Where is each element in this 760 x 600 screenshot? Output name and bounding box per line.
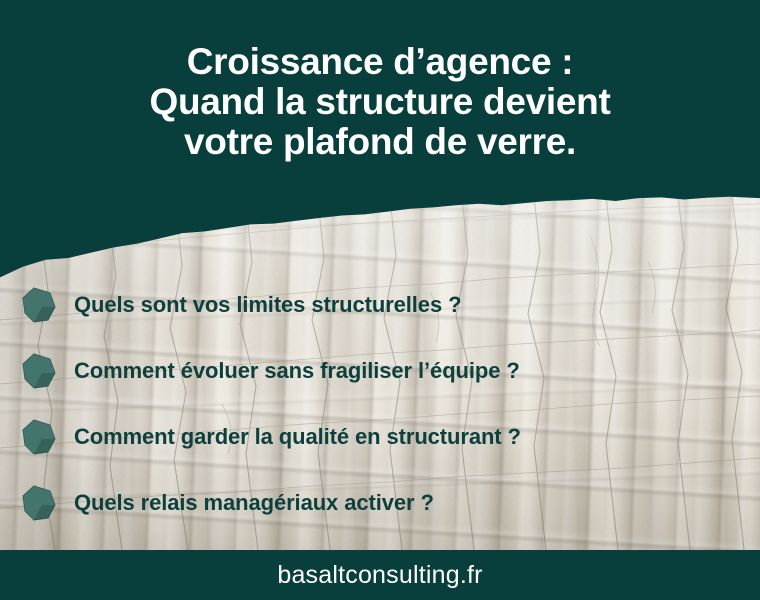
list-item-label: Quels sont vos limites structurelles ?	[74, 292, 461, 318]
basalt-hexagon-icon	[22, 353, 56, 389]
footer-bar: basaltconsulting.fr	[0, 550, 760, 600]
title-line-3: votre plafond de verre.	[0, 122, 760, 162]
list-item-label: Comment garder la qualité en structurant…	[74, 424, 521, 450]
title-line-2: Quand la structure devient	[0, 82, 760, 122]
list-item: Comment garder la qualité en structurant…	[0, 404, 760, 470]
list-item: Comment évoluer sans fragiliser l’équipe…	[0, 338, 760, 404]
list-item-label: Quels relais managériaux activer ?	[74, 490, 434, 516]
basalt-hexagon-icon	[22, 287, 56, 323]
slide-canvas: Croissance d’agence : Quand la structure…	[0, 0, 760, 600]
basalt-hexagon-icon	[22, 419, 56, 455]
basalt-hexagon-icon	[22, 485, 56, 521]
title-line-1: Croissance d’agence :	[0, 42, 760, 82]
list-item-label: Comment évoluer sans fragiliser l’équipe…	[74, 358, 520, 384]
website-url[interactable]: basaltconsulting.fr	[277, 561, 482, 590]
page-title: Croissance d’agence : Quand la structure…	[0, 42, 760, 162]
question-list: Quels sont vos limites structurelles ? C…	[0, 272, 760, 536]
list-item: Quels relais managériaux activer ?	[0, 470, 760, 536]
list-item: Quels sont vos limites structurelles ?	[0, 272, 760, 338]
